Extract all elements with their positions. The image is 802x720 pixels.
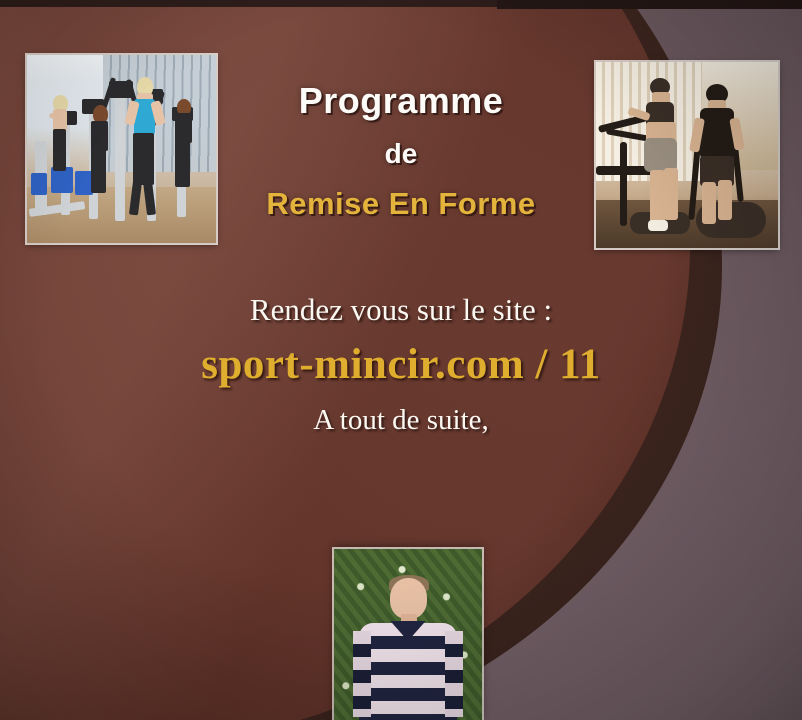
headline-line-1: Programme bbox=[0, 80, 802, 122]
portrait-left-arm bbox=[353, 631, 371, 717]
cta-website-url: sport-mincir.com / 11 bbox=[0, 340, 802, 389]
portrait-striped-shirt bbox=[359, 623, 457, 720]
top-letterbox-bar-right bbox=[497, 0, 802, 9]
portrait-right-arm bbox=[445, 631, 463, 717]
cta-closing: A tout de suite, bbox=[0, 404, 802, 437]
headline-line-3: Remise En Forme bbox=[0, 186, 802, 222]
portrait-face bbox=[390, 578, 427, 619]
photo-portrait-inner bbox=[334, 549, 482, 720]
cta-prompt: Rendez vous sur le site : bbox=[0, 292, 802, 328]
headline-line-2: de bbox=[0, 138, 802, 170]
photo-portrait bbox=[334, 549, 482, 720]
video-frame: Programme de Remise En Forme Rendez vous… bbox=[0, 0, 802, 720]
